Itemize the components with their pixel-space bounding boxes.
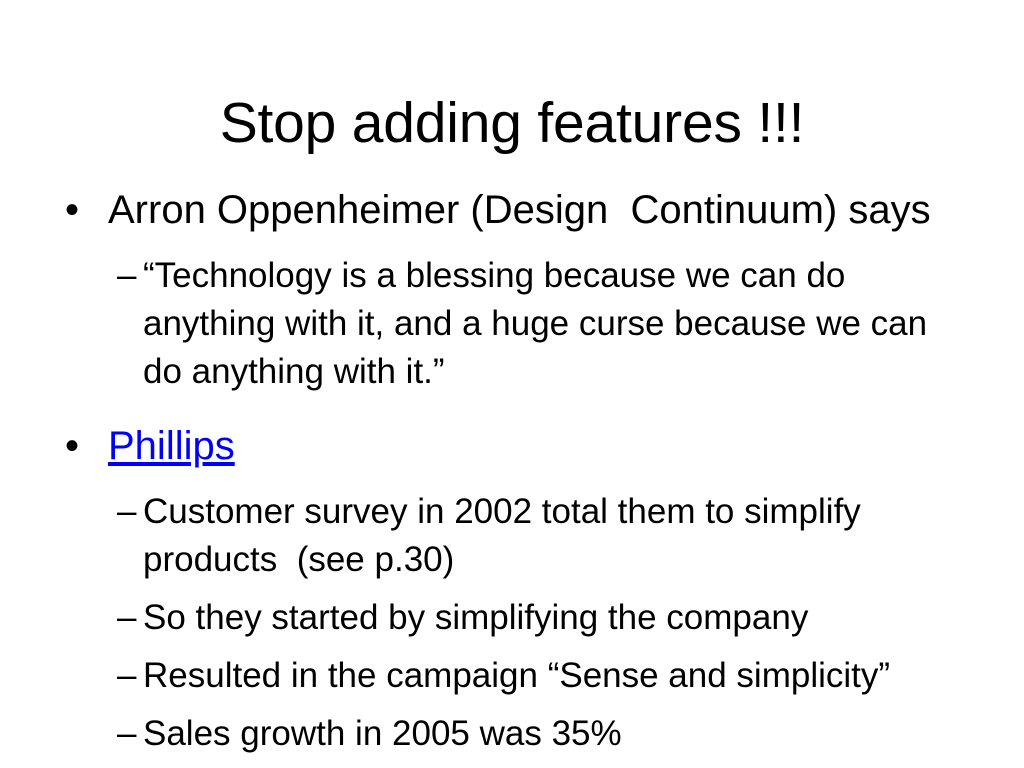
- slide: Stop adding features !!! • Arron Oppenhe…: [0, 0, 1024, 768]
- phillips-hyperlink[interactable]: Phillips: [108, 424, 235, 468]
- bullet-dot-icon: •: [65, 186, 79, 235]
- bullet-level2-text: Resulted in the campaign “Sense and simp…: [143, 656, 890, 695]
- page-title: Stop adding features !!!: [60, 90, 964, 156]
- bullet-level2-text: Customer survey in 2002 total them to si…: [143, 492, 871, 579]
- slide-body: • Arron Oppenheimer (Design Continuum) s…: [58, 186, 968, 758]
- bullet-dash-icon: –: [117, 710, 136, 758]
- bullet-level2-campaign: – Resulted in the campaign “Sense and si…: [58, 652, 968, 700]
- sub-bullet-group-quote: – “Technology is a blessing because we c…: [58, 252, 968, 396]
- bullet-level2-simplifying-company: – So they started by simplifying the com…: [58, 594, 968, 642]
- bullet-dash-icon: –: [117, 252, 136, 300]
- bullet-level2-customer-survey: – Customer survey in 2002 total them to …: [58, 488, 968, 584]
- bullet-dot-icon: •: [65, 422, 79, 471]
- bullet-dash-icon: –: [117, 594, 136, 642]
- bullet-level2-technology-quote: – “Technology is a blessing because we c…: [58, 252, 968, 396]
- bullet-level2-text: So they started by simplifying the compa…: [143, 598, 808, 637]
- bullet-level2-text: Sales growth in 2005 was 35%: [143, 714, 622, 753]
- bullet-level2-sales-growth: – Sales growth in 2005 was 35%: [58, 710, 968, 758]
- bullet-level1-phillips: • Phillips: [58, 422, 968, 471]
- bullet-dash-icon: –: [117, 652, 136, 700]
- bullet-level1-text: Arron Oppenheimer (Design Continuum) say…: [108, 188, 931, 232]
- sub-bullet-group-phillips: – Customer survey in 2002 total them to …: [58, 488, 968, 758]
- bullet-dash-icon: –: [117, 488, 136, 536]
- bullet-level1-oppenheimer: • Arron Oppenheimer (Design Continuum) s…: [58, 186, 968, 235]
- bullet-level2-text: “Technology is a blessing because we can…: [143, 256, 937, 391]
